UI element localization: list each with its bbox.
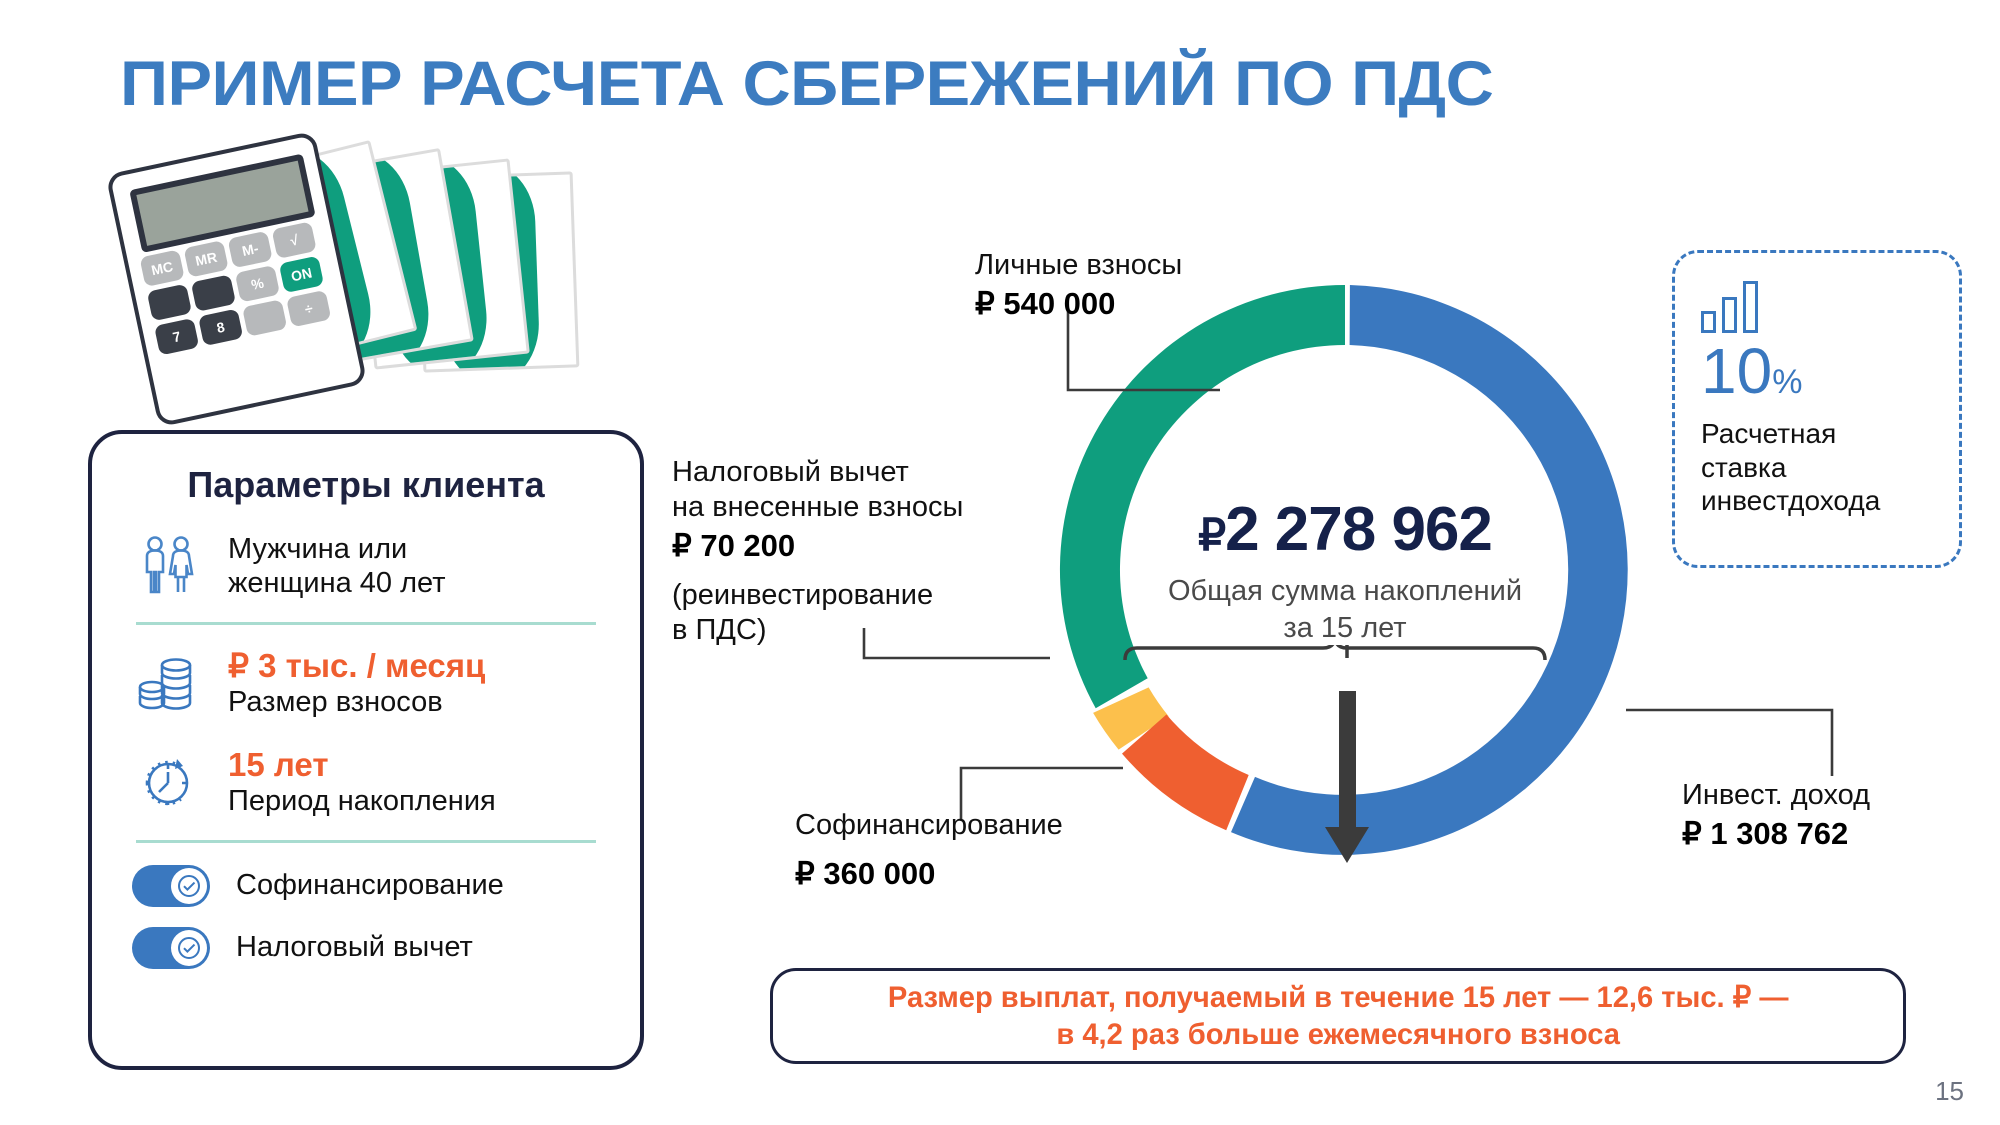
- calc-key: M-: [227, 231, 272, 269]
- toggle-tax-deduction[interactable]: [132, 927, 210, 969]
- param-period-block: 15 лет Период накопления: [228, 746, 496, 818]
- label-tax-deduction: Налоговый вычет на внесенные взносы ₽ 70…: [672, 455, 963, 648]
- toggle-cofinancing[interactable]: [132, 865, 210, 907]
- page-title: ПРИМЕР РАСЧЕТА СБЕРЕЖЕНИЙ ПО ПДС: [120, 48, 1493, 120]
- label-tax-line1: Налоговый вычет: [672, 455, 963, 490]
- label-personal-contributions: Личные взносы ₽ 540 000: [975, 248, 1182, 325]
- label-investment-income: Инвест. доход ₽ 1 308 762: [1682, 778, 1870, 855]
- label-cofinancing-name: Софинансирование: [795, 808, 1063, 843]
- label-personal-value: ₽ 540 000: [975, 283, 1182, 325]
- calc-key: 7: [154, 318, 199, 356]
- label-cofinancing-value: ₽ 360 000: [795, 853, 1063, 895]
- toggle-tax-deduction-label: Налоговый вычет: [236, 931, 473, 964]
- payout-banner-line1: Размер выплат, получаемый в течение 15 л…: [888, 981, 1789, 1014]
- label-tax-line2: на внесенные взносы: [672, 490, 963, 525]
- bar-chart-icon: [1701, 281, 1933, 333]
- coins-icon: [132, 653, 206, 715]
- label-tax-note2: в ПДС): [672, 613, 963, 648]
- clock-icon: [132, 751, 206, 813]
- rate-value: 10: [1701, 335, 1772, 407]
- toggle-row-cofinancing[interactable]: Софинансирование: [132, 865, 600, 907]
- label-tax-note1: (реинвестирование: [672, 578, 963, 613]
- param-row-period: 15 лет Период накопления: [132, 746, 600, 818]
- divider: [136, 840, 596, 843]
- param-period-label: Период накопления: [228, 784, 496, 818]
- label-investment-value: ₽ 1 308 762: [1682, 813, 1870, 855]
- calc-key: %: [235, 265, 280, 303]
- investment-rate-box: 10% Расчетнаяставкаинвестдохода: [1672, 250, 1962, 568]
- client-parameters-card: Параметры клиента Мужчина илиженщина 40 …: [88, 430, 644, 1070]
- toggle-cofinancing-label: Софинансирование: [236, 869, 504, 902]
- payout-banner-text: Размер выплат, получаемый в течение 15 л…: [888, 979, 1789, 1054]
- toggle-row-tax-deduction[interactable]: Налоговый вычет: [132, 927, 600, 969]
- card-title: Параметры клиента: [132, 464, 600, 506]
- people-icon: [132, 535, 206, 597]
- param-contribution-value: ₽ 3 тыс. / месяц: [228, 647, 485, 685]
- page-number: 15: [1935, 1076, 1964, 1107]
- connector-investment: [1620, 700, 1860, 790]
- divider: [136, 622, 596, 625]
- calculator-banknotes-illustration: MC MR M- √ % ON 7 8 ÷: [120, 150, 580, 410]
- calc-key: 8: [198, 309, 243, 347]
- param-contribution-block: ₽ 3 тыс. / месяц Размер взносов: [228, 647, 485, 719]
- calc-key-on: ON: [279, 256, 324, 294]
- payout-banner-line2: в 4,2 раз больше ежемесячного взноса: [1056, 1018, 1620, 1051]
- calc-key: MC: [139, 249, 184, 287]
- calc-key: ÷: [286, 290, 331, 328]
- label-tax-value: ₽ 70 200: [672, 525, 963, 567]
- rate-percent-sign: %: [1772, 363, 1802, 401]
- calc-key: [242, 299, 287, 337]
- label-cofinancing: Софинансирование ₽ 360 000: [795, 808, 1063, 895]
- calc-key: MR: [183, 240, 228, 278]
- param-age-text: Мужчина илиженщина 40 лет: [228, 532, 446, 600]
- label-personal-name: Личные взносы: [975, 248, 1182, 283]
- calc-key: [147, 284, 192, 322]
- calc-key: [191, 274, 236, 312]
- label-investment-name: Инвест. доход: [1682, 778, 1870, 813]
- param-contribution-label: Размер взносов: [228, 685, 485, 719]
- toggle-knob: [171, 868, 207, 904]
- toggle-knob: [171, 930, 207, 966]
- calc-key: √: [272, 221, 317, 259]
- payout-banner: Размер выплат, получаемый в течение 15 л…: [770, 968, 1906, 1064]
- param-row-contribution: ₽ 3 тыс. / месяц Размер взносов: [132, 647, 600, 719]
- rate-number: 10%: [1701, 339, 1933, 403]
- rate-caption: Расчетнаяставкаинвестдохода: [1701, 417, 1933, 518]
- param-row-age: Мужчина илиженщина 40 лет: [132, 532, 600, 600]
- param-period-value: 15 лет: [228, 746, 496, 784]
